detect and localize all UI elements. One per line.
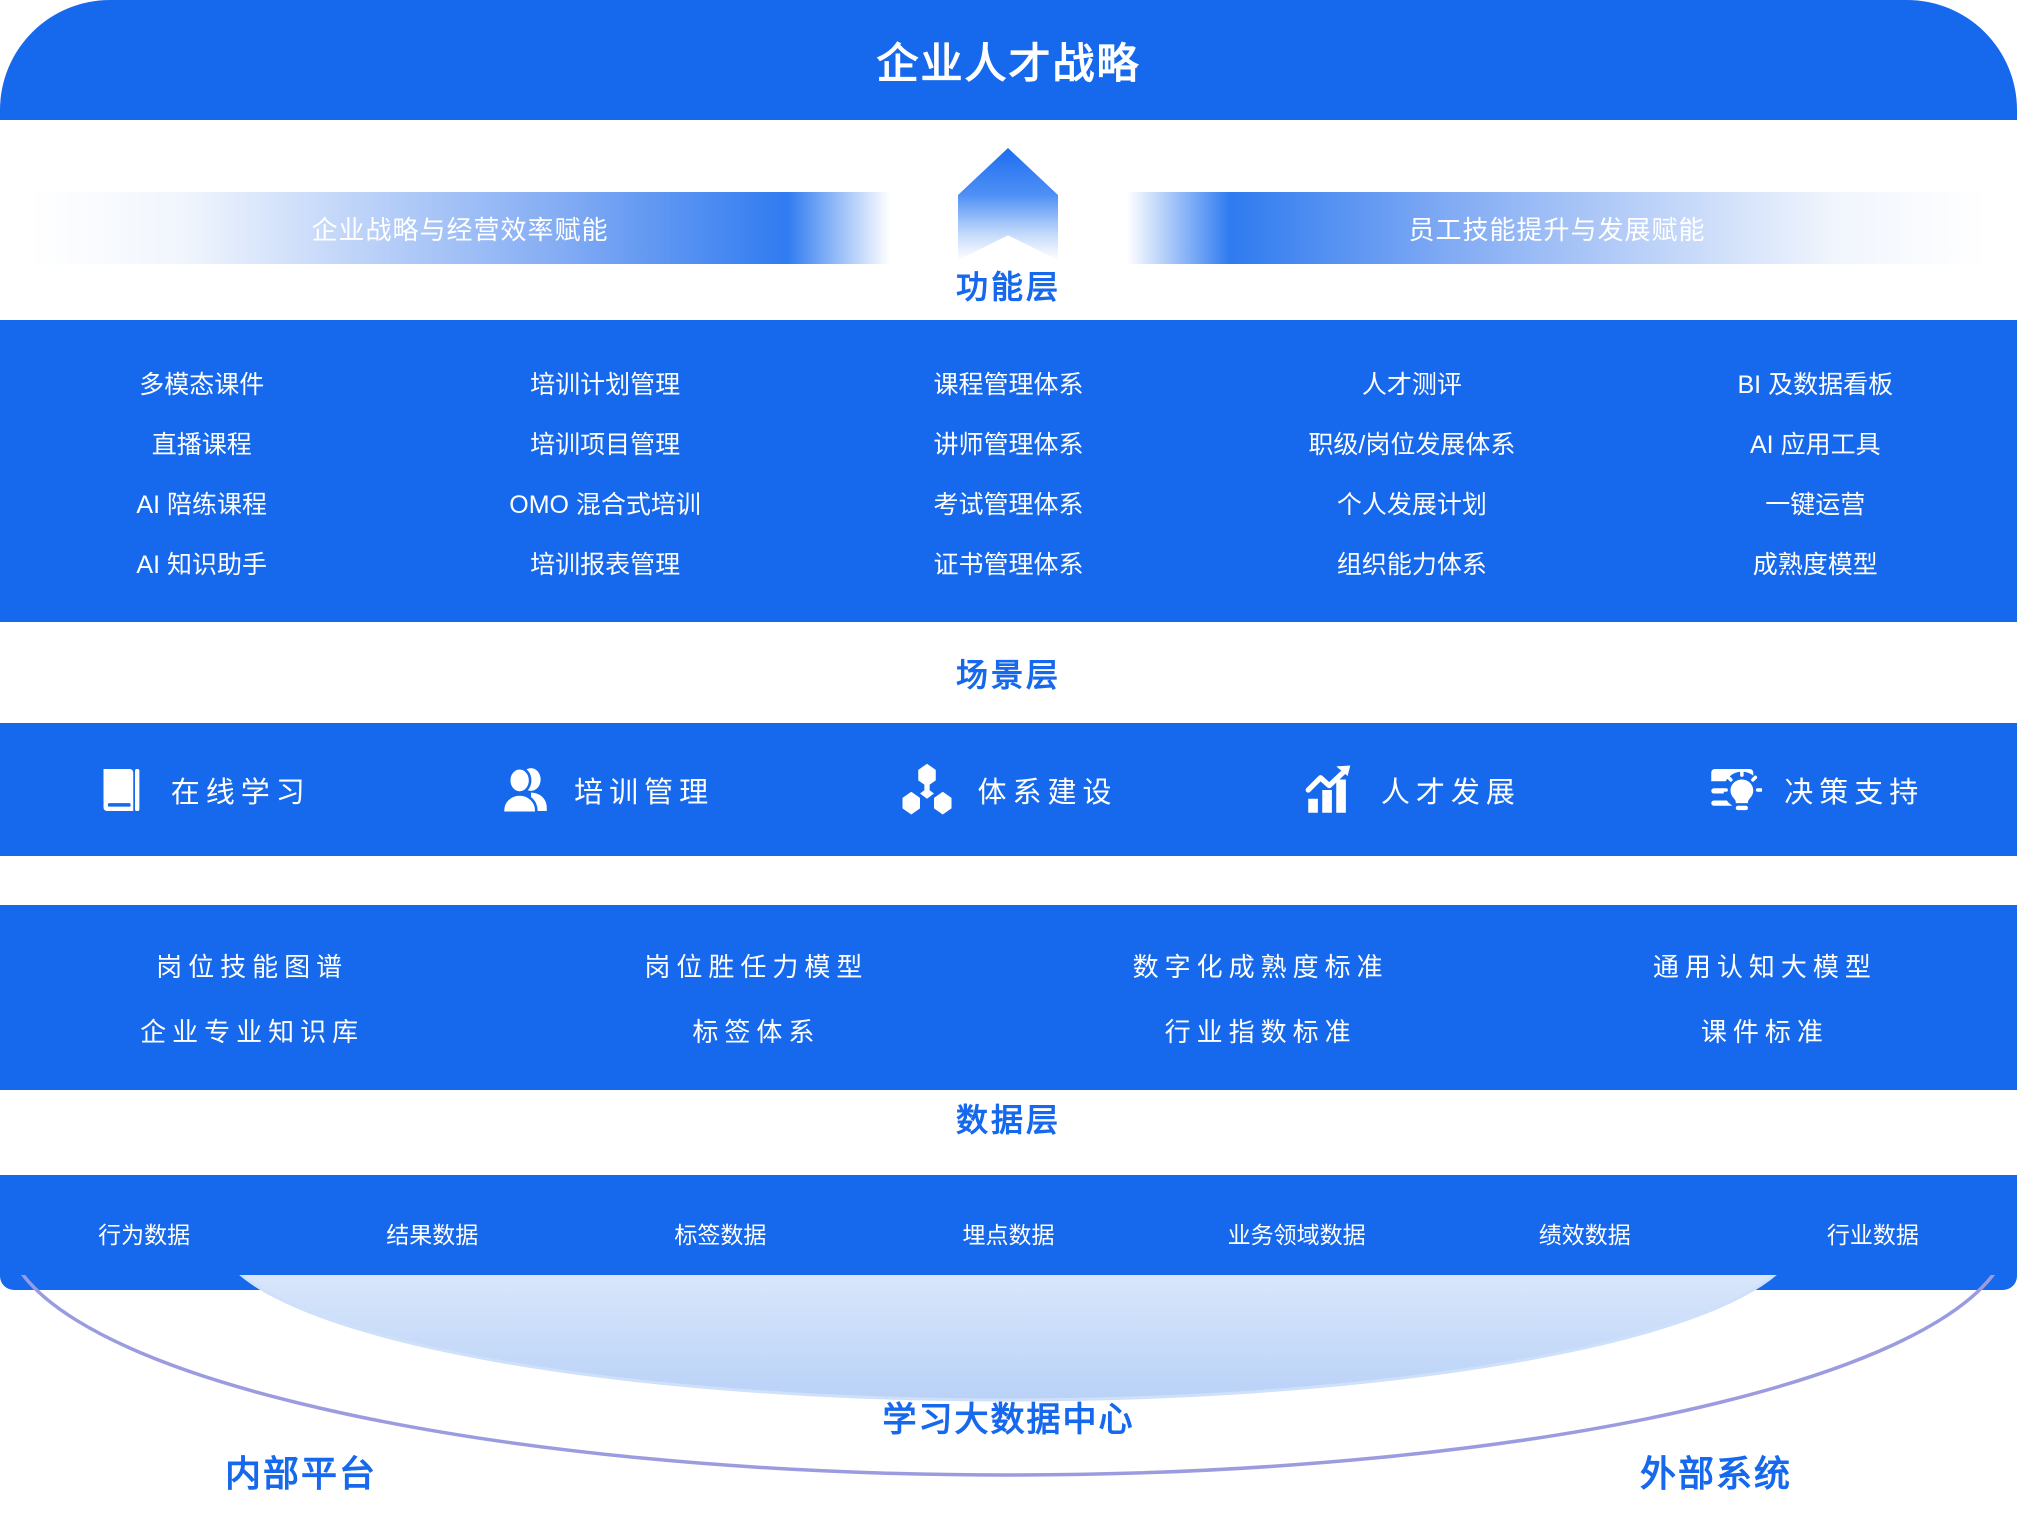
enablement-band-left: 企业战略与经营效率赋能: [30, 192, 890, 264]
function-grid: 多模态课件 直播课程 AI 陪练课程 AI 知识助手 培训计划管理 培训项目管理…: [0, 320, 2017, 622]
data-layer: 行为数据 结果数据 标签数据 埋点数据 业务领域数据 绩效数据 行业数据: [0, 1175, 2017, 1290]
top-banner: 企业人才战略: [0, 0, 2017, 120]
function-item[interactable]: 职级/岗位发展体系: [1308, 425, 1515, 461]
standard-item[interactable]: 岗位胜任力模型: [644, 947, 868, 984]
function-column: 人才测评 职级/岗位发展体系 个人发展计划 组织能力体系: [1308, 365, 1515, 581]
enablement-right-label: 员工技能提升与发展赋能: [1408, 210, 1705, 247]
data-item[interactable]: 业务领域数据: [1228, 1216, 1366, 1250]
function-item[interactable]: 组织能力体系: [1337, 545, 1487, 581]
function-item[interactable]: 课程管理体系: [933, 365, 1083, 401]
function-item[interactable]: 考试管理体系: [933, 485, 1083, 521]
data-item[interactable]: 标签数据: [674, 1216, 766, 1250]
function-item[interactable]: AI 知识助手: [136, 545, 267, 581]
scenario-label: 在线学习: [171, 769, 311, 811]
standard-item[interactable]: 企业专业知识库: [140, 1012, 364, 1049]
standard-item[interactable]: 行业指数标准: [1165, 1012, 1357, 1049]
function-item[interactable]: 讲师管理体系: [933, 425, 1083, 461]
scenario-item-online-learning[interactable]: 在线学习: [93, 762, 311, 818]
book-icon: [93, 762, 149, 818]
function-item[interactable]: AI 应用工具: [1750, 425, 1881, 461]
internal-platform-label: 内部平台: [225, 1445, 377, 1497]
function-item[interactable]: 培训项目管理: [530, 425, 680, 461]
function-item[interactable]: BI 及数据看板: [1738, 365, 1894, 401]
scenario-item-system-building[interactable]: 体系建设: [899, 762, 1117, 818]
layer-caption-function: 功能层: [0, 262, 2017, 308]
page-title: 企业人才战略: [876, 30, 1140, 91]
data-row: 行为数据 结果数据 标签数据 埋点数据 业务领域数据 绩效数据 行业数据: [0, 1175, 2017, 1290]
function-item[interactable]: AI 陪练课程: [136, 485, 267, 521]
enablement-band-right: 员工技能提升与发展赋能: [1127, 192, 1987, 264]
enablement-left-label: 企业战略与经营效率赋能: [311, 210, 608, 247]
hierarchy-icon: [899, 762, 955, 818]
layer-caption-data: 数据层: [0, 1095, 2017, 1141]
standard-grid: 岗位技能图谱 企业专业知识库 岗位胜任力模型 标签体系 数字化成熟度标准 行业指…: [0, 905, 2017, 1090]
standard-column: 通用认知大模型 课件标准: [1653, 947, 1877, 1049]
lightbulb-card-icon: [1706, 762, 1762, 818]
function-column: 课程管理体系 讲师管理体系 考试管理体系 证书管理体系: [933, 365, 1083, 581]
layer-caption-scenario: 场景层: [0, 650, 2017, 696]
standard-item[interactable]: 通用认知大模型: [1653, 947, 1877, 984]
function-item[interactable]: 多模态课件: [139, 365, 264, 401]
function-column: BI 及数据看板 AI 应用工具 一键运营 成熟度模型: [1738, 365, 1894, 581]
external-system-label: 外部系统: [1640, 1445, 1792, 1497]
function-item[interactable]: 成熟度模型: [1753, 545, 1878, 581]
function-item[interactable]: 个人发展计划: [1337, 485, 1487, 521]
scenario-label: 体系建设: [977, 769, 1117, 811]
standard-layer: 岗位技能图谱 企业专业知识库 岗位胜任力模型 标签体系 数字化成熟度标准 行业指…: [0, 905, 2017, 1090]
function-column: 多模态课件 直播课程 AI 陪练课程 AI 知识助手: [136, 365, 267, 581]
function-item[interactable]: 人才测评: [1362, 365, 1462, 401]
function-item[interactable]: 培训报表管理: [530, 545, 680, 581]
standard-item[interactable]: 标签体系: [692, 1012, 820, 1049]
scenario-label: 决策支持: [1784, 769, 1924, 811]
data-item[interactable]: 埋点数据: [962, 1216, 1054, 1250]
scenario-item-talent-development[interactable]: 人才发展: [1303, 762, 1521, 818]
function-item[interactable]: 培训计划管理: [530, 365, 680, 401]
architecture-diagram: 企业人才战略 企业战略与经营效率赋能 员工技能提升与发展赋能 功能层 多模态课件…: [0, 0, 2017, 1530]
function-column: 培训计划管理 培训项目管理 OMO 混合式培训 培训报表管理: [509, 365, 701, 581]
growth-chart-icon: [1303, 762, 1359, 818]
standard-column: 岗位胜任力模型 标签体系: [644, 947, 868, 1049]
data-item[interactable]: 行业数据: [1827, 1216, 1919, 1250]
people-icon: [496, 762, 552, 818]
scenario-label: 人才发展: [1381, 769, 1521, 811]
data-center-label: 学习大数据中心: [0, 1392, 2017, 1441]
standard-item[interactable]: 岗位技能图谱: [156, 947, 348, 984]
function-item[interactable]: 一键运营: [1765, 485, 1865, 521]
standard-item[interactable]: 课件标准: [1701, 1012, 1829, 1049]
function-item[interactable]: 证书管理体系: [933, 545, 1083, 581]
function-item[interactable]: OMO 混合式培训: [509, 485, 701, 521]
scenario-item-decision-support[interactable]: 决策支持: [1706, 762, 1924, 818]
bowl-inner-fill: [218, 1275, 1798, 1400]
function-item[interactable]: 直播课程: [152, 425, 252, 461]
standard-column: 岗位技能图谱 企业专业知识库: [140, 947, 364, 1049]
data-item[interactable]: 行为数据: [98, 1216, 190, 1250]
scenario-item-training-management[interactable]: 培训管理: [496, 762, 714, 818]
data-item[interactable]: 结果数据: [386, 1216, 478, 1250]
data-item[interactable]: 绩效数据: [1539, 1216, 1631, 1250]
scenario-label: 培训管理: [574, 769, 714, 811]
function-layer: 多模态课件 直播课程 AI 陪练课程 AI 知识助手 培训计划管理 培训项目管理…: [0, 320, 2017, 622]
standard-item[interactable]: 数字化成熟度标准: [1133, 947, 1389, 984]
standard-column: 数字化成熟度标准 行业指数标准: [1133, 947, 1389, 1049]
layer-caption-standard: 标准层: [0, 815, 2017, 861]
